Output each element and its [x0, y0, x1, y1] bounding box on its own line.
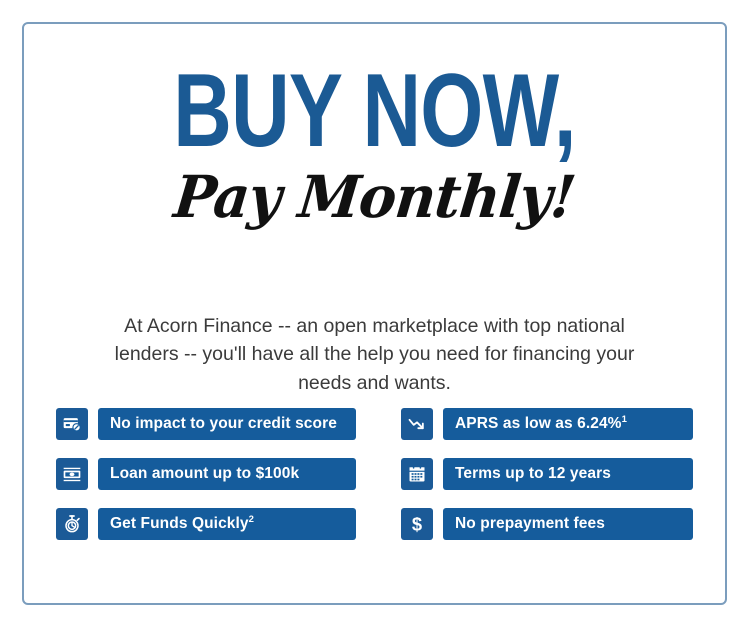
headline-script: Pay Monthly!	[35, 168, 714, 226]
dollar-sign-icon: $	[401, 508, 433, 540]
feature-item-no-prepayment-fees[interactable]: $ No prepayment fees	[401, 505, 698, 543]
feature-item-terms[interactable]: Terms up to 12 years	[401, 455, 698, 493]
feature-label: APRS as low as 6.24%1	[455, 415, 627, 433]
feature-bar: No impact to your credit score	[98, 408, 356, 440]
feature-label: Get Funds Quickly2	[110, 515, 254, 533]
footnote-marker: 1	[622, 414, 627, 425]
feature-item-loan-amount[interactable]: Loan amount up to $100k	[56, 455, 356, 493]
feature-label: No impact to your credit score	[110, 415, 337, 433]
footnote-marker: 2	[249, 514, 254, 525]
headline-block: BUY NOW, Pay Monthly!	[24, 64, 725, 226]
feature-bar: Get Funds Quickly2	[98, 508, 356, 540]
feature-label: No prepayment fees	[455, 515, 605, 533]
credit-card-icon	[56, 408, 88, 440]
promo-card: BUY NOW, Pay Monthly! At Acorn Finance -…	[22, 22, 727, 605]
feature-item-low-apr[interactable]: APRS as low as 6.24%1	[401, 405, 698, 443]
feature-item-fast-funding[interactable]: Get Funds Quickly2	[56, 505, 356, 543]
svg-text:$: $	[412, 514, 422, 534]
trend-down-arrow-icon	[401, 408, 433, 440]
feature-bar: Terms up to 12 years	[443, 458, 693, 490]
feature-item-no-credit-impact[interactable]: No impact to your credit score	[56, 405, 356, 443]
feature-bar: APRS as low as 6.24%1	[443, 408, 693, 440]
calendar-icon	[401, 458, 433, 490]
feature-grid: No impact to your credit score APRS as l…	[56, 405, 698, 555]
feature-label: Terms up to 12 years	[455, 465, 611, 483]
feature-bar: No prepayment fees	[443, 508, 693, 540]
headline-primary: BUY NOW,	[101, 64, 648, 160]
intro-paragraph: At Acorn Finance -- an open marketplace …	[115, 312, 635, 399]
feature-bar: Loan amount up to $100k	[98, 458, 356, 490]
feature-label: Loan amount up to $100k	[110, 465, 299, 483]
stopwatch-icon	[56, 508, 88, 540]
banknote-icon	[56, 458, 88, 490]
